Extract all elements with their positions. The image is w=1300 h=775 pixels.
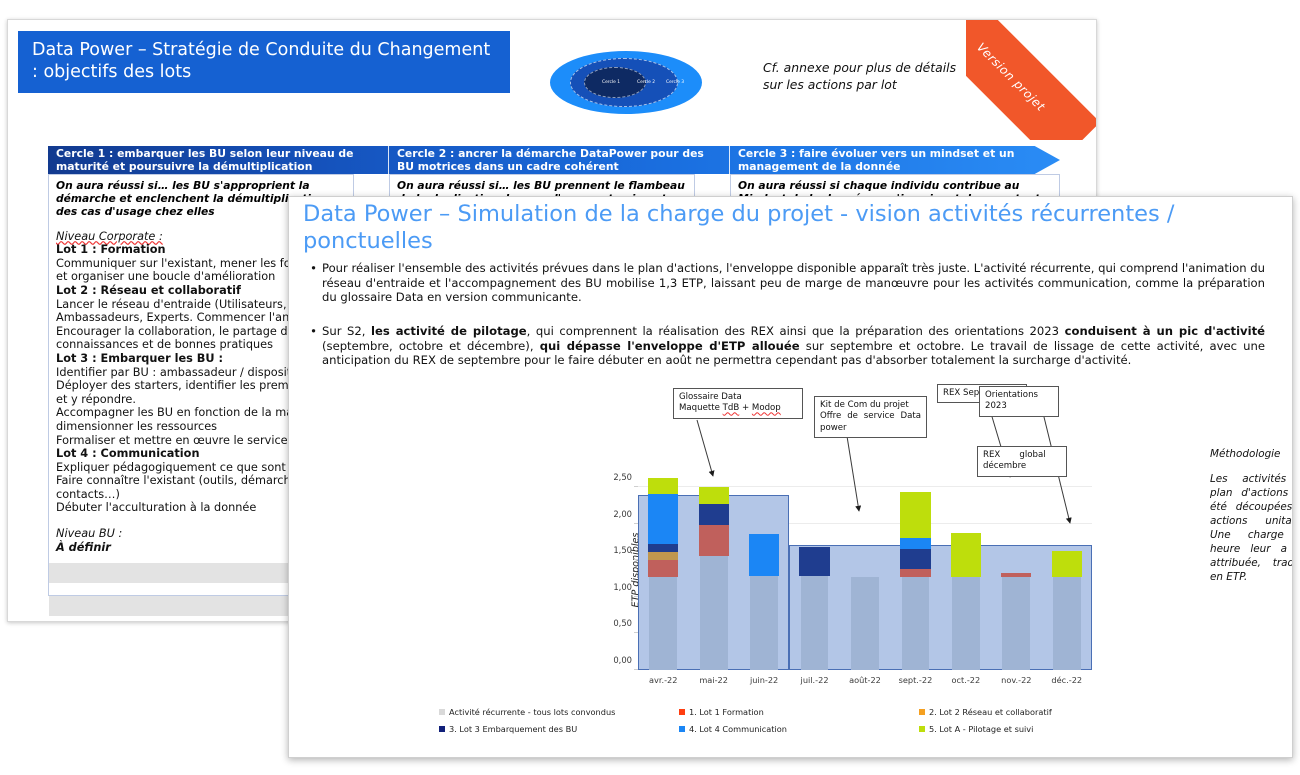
bar-segment-recurrente (851, 577, 879, 670)
bar-segment-lot1 (900, 569, 930, 577)
legend-label: 5. Lot A - Pilotage et suivi (929, 722, 1034, 736)
band-cell-cercle3: Cercle 3 : faire évoluer vers un mindset… (730, 146, 1060, 174)
callout-glossaire-line1: Glossaire Data (679, 392, 742, 402)
x-axis-tick: mai-22 (699, 675, 728, 685)
foreground-slide-simulation[interactable]: Data Power – Simulation de la charge du … (288, 196, 1293, 758)
bar-nov.-22[interactable] (1001, 469, 1031, 670)
callout-rex-decembre-line2: décembre (983, 461, 1026, 471)
legend-label: 2. Lot 2 Réseau et collaboratif (929, 705, 1052, 719)
page-title: Data Power – Simulation de la charge du … (303, 201, 1268, 255)
legend-item-lot3[interactable]: 3. Lot 3 Embarquement des BU (439, 722, 679, 736)
y-axis-tick: 0,00 (613, 655, 632, 665)
legend-label: 4. Lot 4 Communication (689, 722, 787, 736)
bar-segment-recurrente (649, 577, 677, 670)
y-axis-tickmark (634, 559, 638, 560)
bar-segment-lotA (1052, 551, 1082, 577)
methodologie-body: Les activités du plan d'actions ont été … (1210, 472, 1293, 584)
venn-label-c1: Cercle 1 (602, 80, 620, 85)
etp-load-chart[interactable]: ETP disponibles 0,000,501,001,502,002,50… (589, 382, 1094, 697)
y-axis-tick: 1,00 (613, 582, 632, 592)
callout-glossaire-line2: Maquette TdB + Modop (679, 403, 781, 413)
bar-segment-lotA (900, 492, 930, 538)
bar-segment-lot3 (799, 547, 829, 576)
bullet-2: • Sur S2, les activité de pilotage, qui … (305, 324, 1265, 368)
venn-label-c2: Cercle 2 (637, 80, 655, 85)
bar-avr.-22[interactable] (648, 469, 678, 670)
bar-segment-recurrente (801, 576, 829, 670)
bar-juin-22[interactable] (749, 469, 779, 670)
chart-legend: Activité récurrente - tous lots convondu… (439, 705, 1159, 739)
y-axis-tick: 1,50 (613, 545, 632, 555)
circles-header-band: Cercle 1 : embarquer les BU selon leur n… (48, 146, 1060, 174)
bar-mai-22[interactable] (699, 469, 729, 670)
bar-segment-lotA (699, 487, 729, 504)
legend-label: Activité récurrente - tous lots convondu… (449, 705, 615, 719)
bar-segment-lot3 (699, 504, 729, 525)
legend-swatch (919, 726, 925, 732)
x-axis-tick: déc.-22 (1051, 675, 1082, 685)
callout-orientations-line2: 2023 (985, 401, 1007, 411)
x-axis-tick: oct.-22 (952, 675, 981, 685)
legend-swatch (679, 726, 685, 732)
version-ribbon: Version projet (966, 20, 1096, 140)
venn-diagram: Cercle 1 Cercle 2 Cercle 3 (550, 51, 702, 114)
legend-item-lot4[interactable]: 4. Lot 4 Communication (679, 722, 919, 736)
legend-item-lotA[interactable]: 5. Lot A - Pilotage et suivi (919, 722, 1159, 736)
legend-swatch (679, 709, 685, 715)
legend-label: 3. Lot 3 Embarquement des BU (449, 722, 577, 736)
y-axis-tick: 2,50 (613, 472, 632, 482)
bar-segment-lot4 (749, 534, 779, 576)
legend-item-lot2[interactable]: 2. Lot 2 Réseau et collaboratif (919, 705, 1159, 719)
y-axis-tick: 0,50 (613, 618, 632, 628)
bar-segment-recurrente (952, 577, 980, 670)
legend-swatch (919, 709, 925, 715)
y-axis-tickmark (634, 523, 638, 524)
x-axis-tick: nov.-22 (1001, 675, 1031, 685)
x-axis-tick: sept.-22 (899, 675, 933, 685)
bar-segment-lot1 (1001, 573, 1031, 577)
y-axis-tickmark (634, 669, 638, 670)
bar-segment-recurrente (750, 576, 778, 670)
venn-label-c3: Cercle 3 (666, 80, 684, 85)
bar-segment-lotA (648, 478, 678, 494)
bar-segment-lot3 (648, 544, 678, 553)
x-axis-tick: avr.-22 (649, 675, 677, 685)
bullet-1-text: Pour réaliser l'ensemble des activités p… (322, 261, 1265, 305)
callout-kit-com-line1: Kit de Com du projet (820, 400, 909, 410)
bar-déc.-22[interactable] (1052, 469, 1082, 670)
y-axis-tickmark (634, 632, 638, 633)
band-cell-cercle1: Cercle 1 : embarquer les BU selon leur n… (48, 146, 388, 174)
bar-segment-lot3 (900, 549, 930, 569)
y-axis-tick: 2,00 (613, 509, 632, 519)
bar-segment-recurrente (1002, 577, 1030, 670)
methodologie-block: Méthodologie Les activités du plan d'act… (1210, 447, 1293, 584)
bar-segment-recurrente (700, 556, 728, 670)
bar-segment-lot1 (648, 560, 678, 578)
legend-swatch (439, 726, 445, 732)
bullet-dot-icon: • (305, 324, 322, 368)
legend-label: 1. Lot 1 Formation (689, 705, 764, 719)
bar-oct.-22[interactable] (951, 469, 981, 670)
x-axis-tick: juin-22 (750, 675, 778, 685)
ribbon-label: Version projet (966, 20, 1096, 140)
bar-segment-recurrente (902, 577, 930, 670)
back-slide-title: Data Power – Stratégie de Conduite du Ch… (18, 31, 510, 93)
callout-orientations[interactable]: Orientations 2023 (979, 386, 1059, 417)
x-axis-tick: août-22 (849, 675, 881, 685)
bar-segment-lot2 (648, 552, 678, 559)
bar-août-22[interactable] (850, 469, 880, 670)
band-cell-cercle2: Cercle 2 : ancrer la démarche DataPower … (389, 146, 729, 174)
callout-kit-com-line2: Offre de service Data power (820, 411, 921, 432)
bar-segment-lotA (951, 533, 981, 578)
annex-note: Cf. annexe pour plus de détails sur les … (763, 60, 978, 93)
y-axis-tickmark (634, 596, 638, 597)
chart-plot-area: ETP disponibles 0,000,501,001,502,002,50… (638, 469, 1092, 670)
methodologie-title: Méthodologie (1210, 447, 1293, 461)
capacity-band-S2 (789, 545, 1092, 670)
x-axis-tick: juil.-22 (801, 675, 829, 685)
legend-swatch (439, 709, 445, 715)
y-axis-tickmark (634, 486, 638, 487)
bar-segment-lot1 (699, 525, 729, 556)
callout-rex-decembre[interactable]: REX global décembre (977, 446, 1067, 477)
callout-kit-com[interactable]: Kit de Com du projet Offre de service Da… (814, 396, 927, 438)
bar-segment-lot4 (648, 494, 678, 544)
bullet-1: • Pour réaliser l'ensemble des activités… (305, 261, 1265, 305)
bar-segment-recurrente (1053, 577, 1081, 670)
legend-item-lot1[interactable]: 1. Lot 1 Formation (679, 705, 919, 719)
bar-sept.-22[interactable] (900, 469, 930, 670)
bullet-2-text: Sur S2, les activité de pilotage, qui co… (322, 324, 1265, 368)
legend-item-recurrente[interactable]: Activité récurrente - tous lots convondu… (439, 705, 679, 719)
callout-rex-decembre-line1: REX global (983, 450, 1046, 460)
bar-juil.-22[interactable] (799, 469, 829, 670)
bar-segment-lot4 (900, 538, 930, 549)
bullet-dot-icon: • (305, 261, 322, 305)
callout-glossaire[interactable]: Glossaire Data Maquette TdB + Modop (673, 388, 803, 419)
callout-orientations-line1: Orientations (985, 390, 1038, 400)
